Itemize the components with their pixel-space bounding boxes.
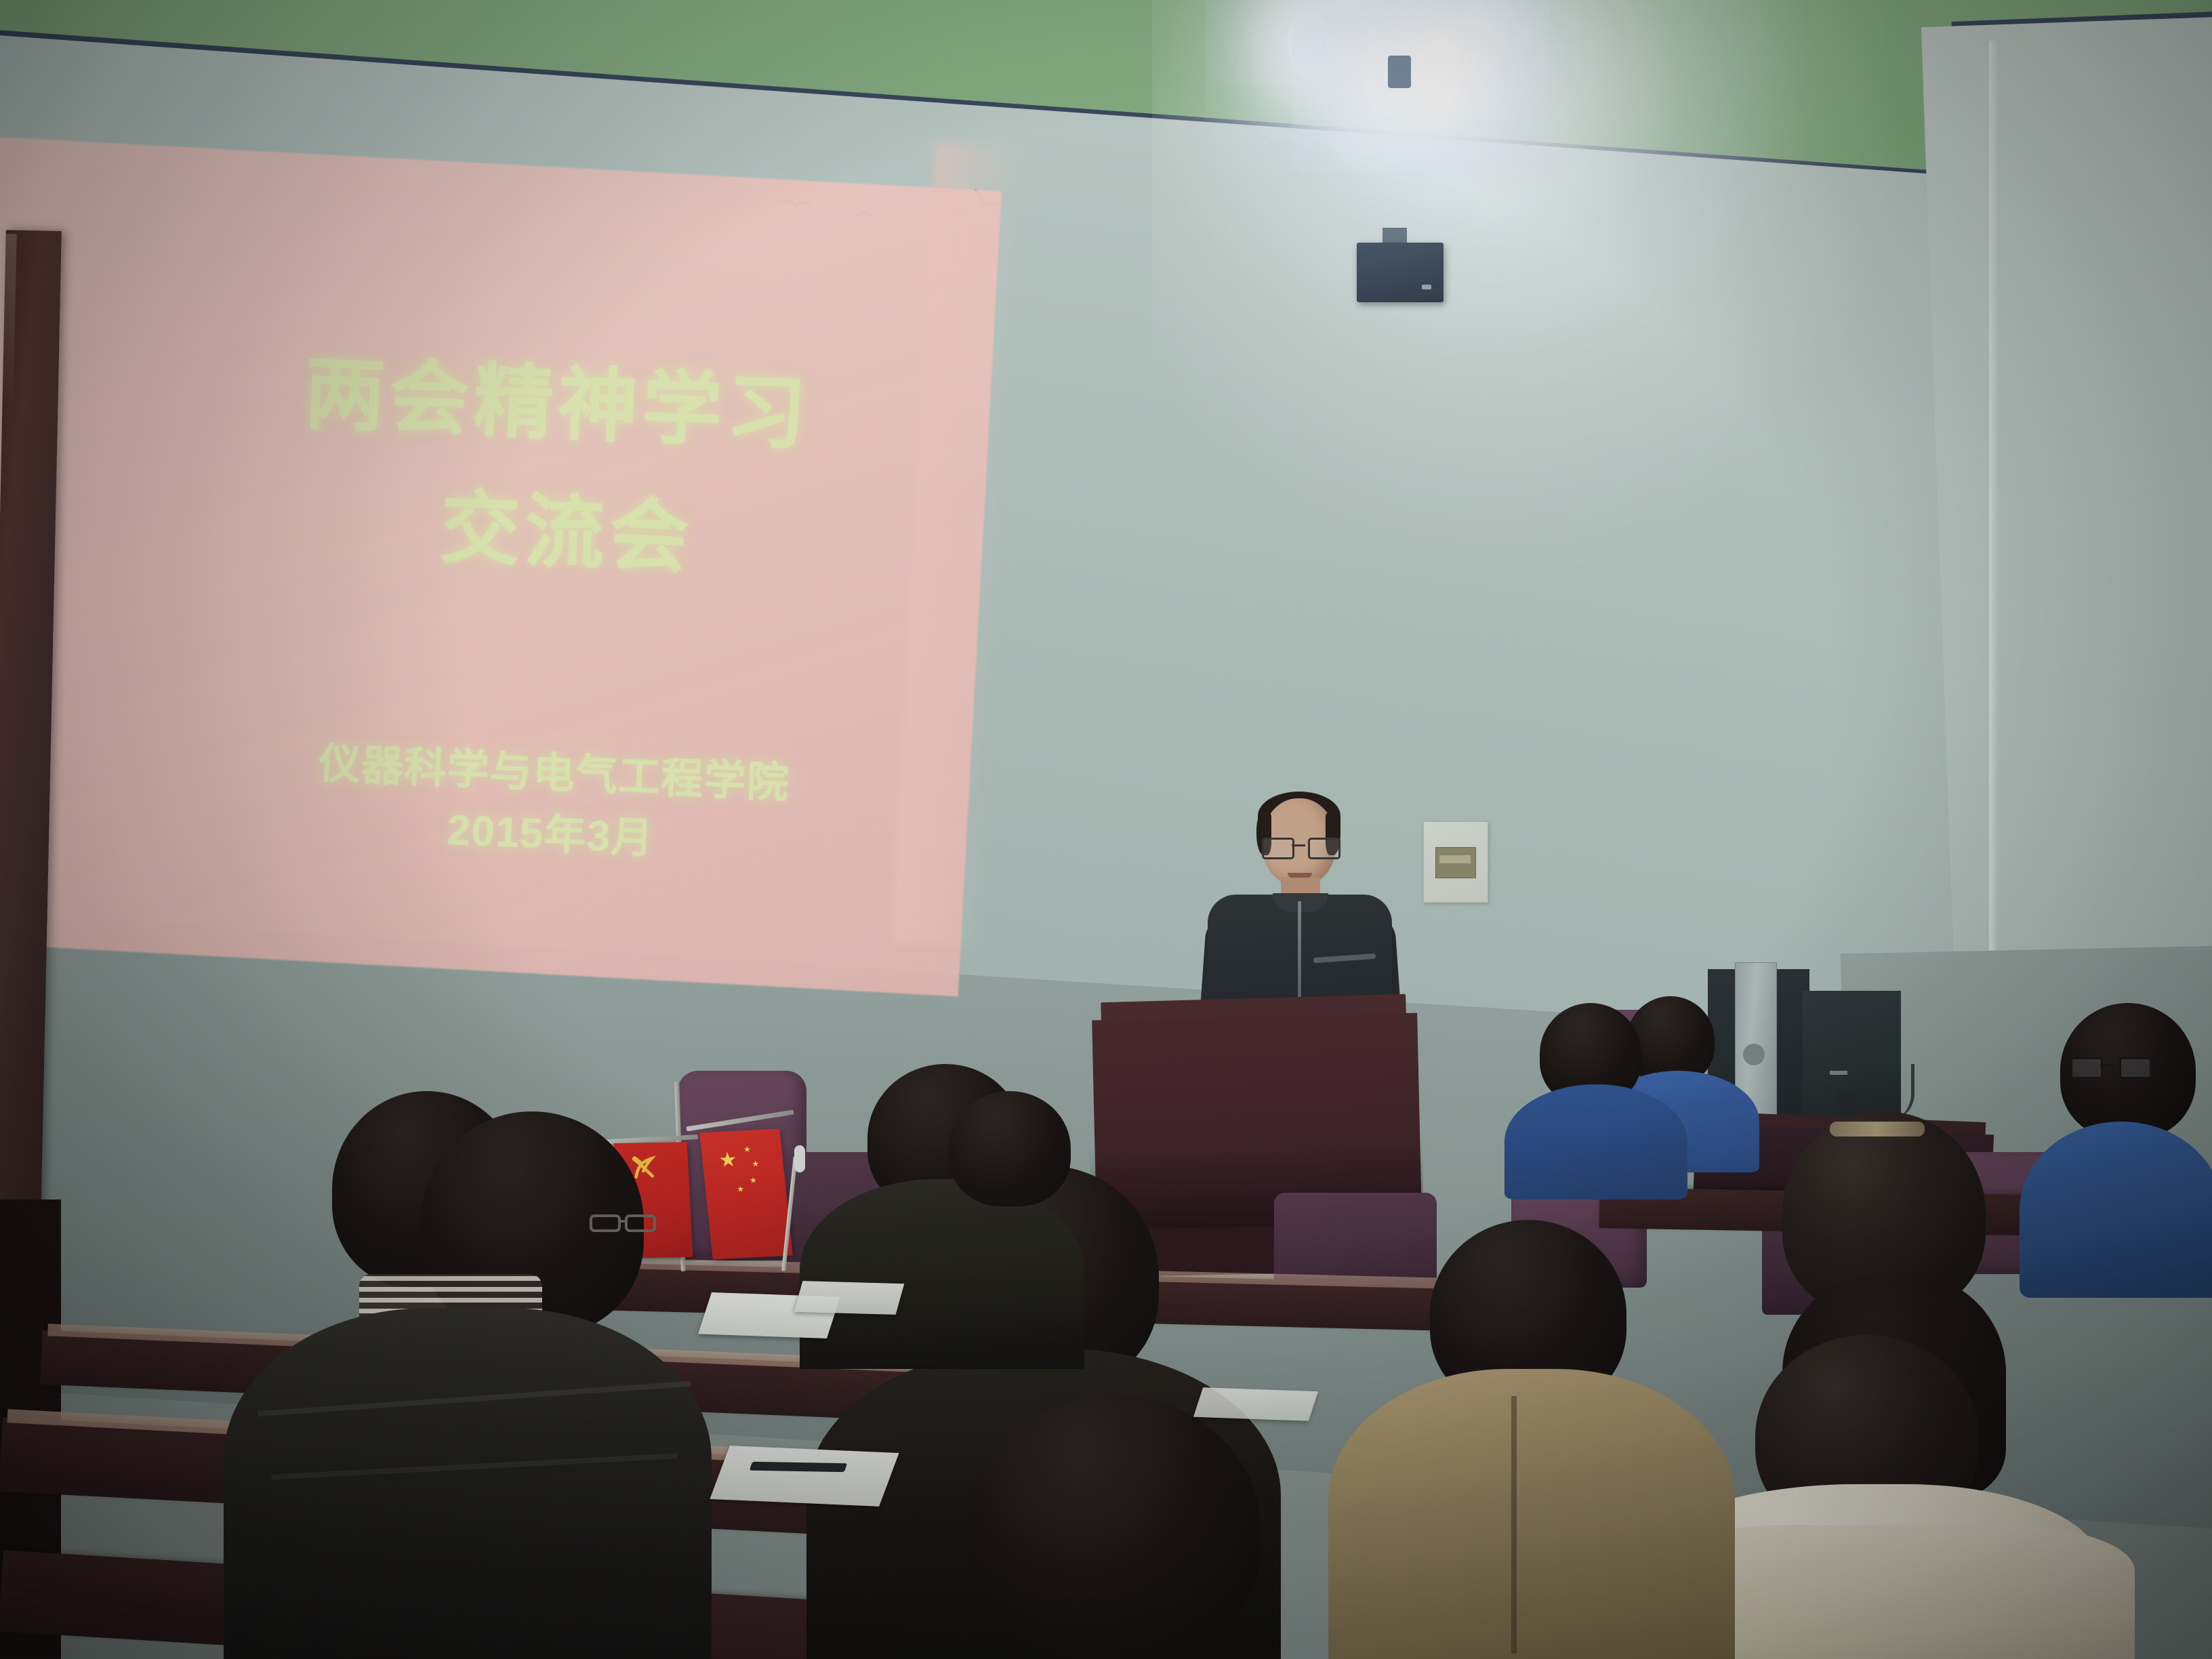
microphone-head-icon [794, 1145, 805, 1172]
ceiling-projector [1357, 243, 1443, 302]
audience-glasses-icon [590, 1213, 657, 1233]
slide-date: 2015年3月 [446, 796, 655, 865]
prc-star-large-icon: ★ [718, 1150, 738, 1171]
notebook-paper [1193, 1387, 1318, 1420]
prc-flag-stars: ★ ★ ★ ★ ★ [699, 1128, 793, 1259]
prc-star-small-icon: ★ [743, 1145, 751, 1153]
right-wall-upper [1921, 14, 2212, 1010]
khaki-coat-shoulders [1328, 1369, 1735, 1659]
slide-title-line2: 交流会 [438, 462, 696, 588]
pc-power-button-icon[interactable] [1743, 1044, 1765, 1065]
coat-seam [1511, 1396, 1517, 1654]
notebook-paper [710, 1446, 899, 1507]
chandelier-center-body [1388, 56, 1411, 88]
prc-star-small-icon: ★ [749, 1176, 757, 1184]
prc-star-small-icon: ★ [752, 1160, 760, 1168]
slide-title-line1: 两会精神学习 [303, 328, 813, 465]
hair-clip [1830, 1122, 1925, 1136]
audience-shoulders [2020, 1122, 2212, 1298]
audience-head-frontmost [969, 1396, 1261, 1659]
prc-star-small-icon: ★ [737, 1185, 745, 1193]
monitor-brand-label [1830, 1071, 1847, 1075]
audience-head [949, 1091, 1071, 1206]
notebook-paper [794, 1281, 905, 1315]
photo-scene: 两会精神学习 交流会 仪器科学与电气工程学院 2015年3月 [0, 0, 2212, 1659]
hammer-and-sickle-icon [631, 1151, 659, 1183]
audience-shoulders-leather [224, 1308, 712, 1659]
audience-glasses-icon [2070, 1057, 2152, 1075]
wall-corner-highlight [1989, 41, 1999, 989]
projector-lens-icon [1422, 285, 1431, 289]
pen [750, 1462, 847, 1472]
speaker-glasses-icon [1262, 838, 1338, 855]
panel-inner-slot [1439, 855, 1471, 863]
audience-shoulders [800, 1179, 1084, 1369]
audience-shoulders [1504, 1084, 1687, 1200]
